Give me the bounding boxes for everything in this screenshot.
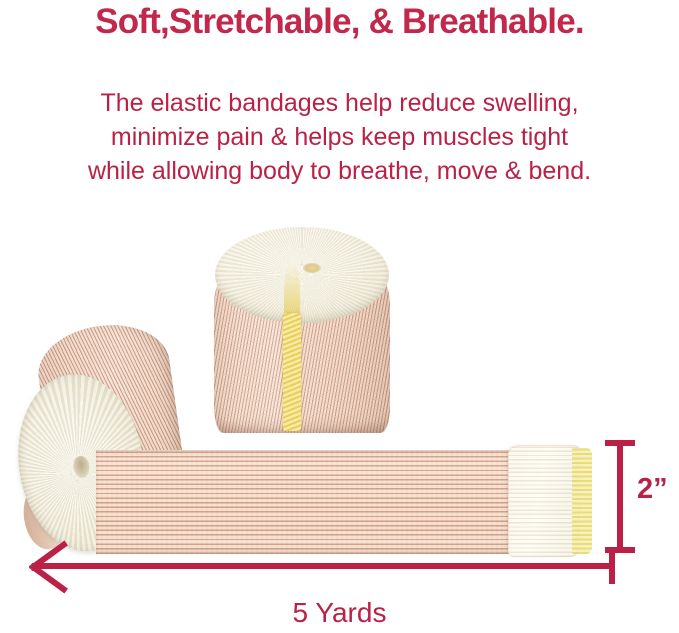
length-dimension-line [36,563,614,569]
product-photo [0,205,679,575]
description-line-2: minimize pain & helps keep muscles tight [0,120,679,154]
roll-standing-top-face [215,227,389,323]
length-dimension-arrowhead-icon [30,544,74,590]
description-block: The elastic bandages help reduce swellin… [0,86,679,188]
elastic-bandage-roll-standing [214,227,390,433]
bandage-strip-end-tab [508,445,580,557]
length-dimension-end-cap [609,549,615,584]
bandage-strip-gold-fringe [572,448,592,554]
length-dimension-label: 5 Yards [0,597,679,629]
width-dimension-bottom-cap [605,547,635,553]
width-dimension-label: 2” [637,473,668,506]
roll-standing-center-mark [303,263,321,273]
roll-tilted-center-hole [72,455,91,479]
description-line-1: The elastic bandages help reduce swellin… [0,86,679,120]
width-dimension-line [617,443,623,551]
description-line-3: while allowing body to breathe, move & b… [0,154,679,188]
page-title: Soft,Stretchable, & Breathable. [0,2,679,42]
unrolled-bandage-strip [96,450,522,554]
roll-standing-gold-stitch-seam [283,313,301,431]
roll-standing-seam-upper [284,263,300,319]
product-infographic: Soft,Stretchable, & Breathable. The elas… [0,0,679,633]
